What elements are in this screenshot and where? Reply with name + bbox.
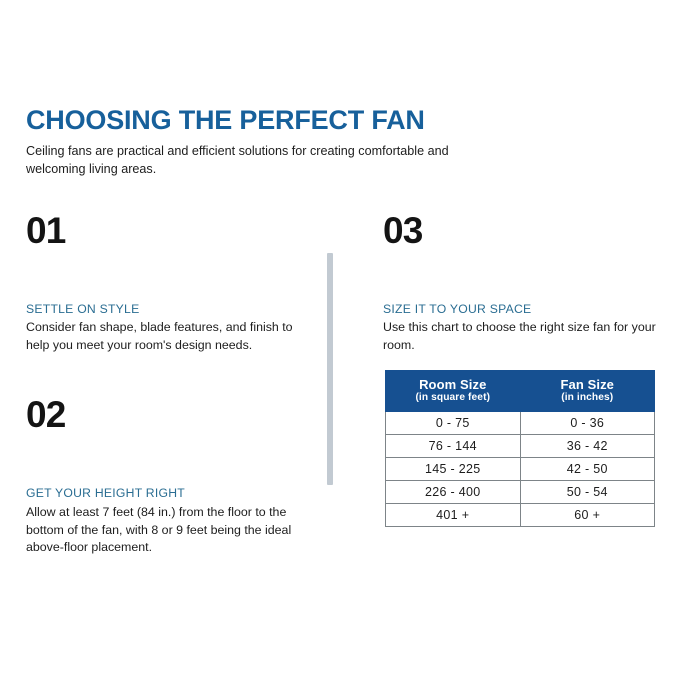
step-body-02: Allow at least 7 feet (84 in.) from the … xyxy=(26,504,298,558)
cell-fan-size: 50 - 54 xyxy=(520,481,655,504)
step-subtitle-02: GET YOUR HEIGHT RIGHT xyxy=(26,485,298,501)
step-number-03: 03 xyxy=(383,212,668,249)
right-column: 03 SIZE IT TO YOUR SPACE Use this chart … xyxy=(383,212,668,355)
column-header-fan-size-sub: (in inches) xyxy=(525,392,651,404)
step-block-01: 01 SETTLE ON STYLE Consider fan shape, b… xyxy=(26,212,298,355)
step-subtitle-03: SIZE IT TO YOUR SPACE xyxy=(383,301,668,317)
table-row: 401 + 60 + xyxy=(386,504,655,527)
fan-size-chart: Room Size (in square feet) Fan Size (in … xyxy=(385,370,655,527)
table-body: 0 - 75 0 - 36 76 - 144 36 - 42 145 - 225… xyxy=(386,412,655,527)
step-block-03: 03 SIZE IT TO YOUR SPACE Use this chart … xyxy=(383,212,668,355)
table-row: 0 - 75 0 - 36 xyxy=(386,412,655,435)
cell-room-size: 0 - 75 xyxy=(386,412,521,435)
column-header-room-size-main: Room Size xyxy=(390,377,516,392)
table-row: 145 - 225 42 - 50 xyxy=(386,458,655,481)
cell-fan-size: 42 - 50 xyxy=(520,458,655,481)
left-column: 01 SETTLE ON STYLE Consider fan shape, b… xyxy=(26,212,298,557)
column-header-fan-size-main: Fan Size xyxy=(525,377,651,392)
cell-room-size: 226 - 400 xyxy=(386,481,521,504)
step-body-03: Use this chart to choose the right size … xyxy=(383,319,668,355)
column-divider xyxy=(327,253,333,485)
infographic-page: CHOOSING THE PERFECT FAN Ceiling fans ar… xyxy=(0,0,700,700)
column-header-room-size-sub: (in square feet) xyxy=(390,392,516,404)
step-number-01: 01 xyxy=(26,212,298,249)
page-title: CHOOSING THE PERFECT FAN xyxy=(26,106,496,134)
cell-fan-size: 36 - 42 xyxy=(520,435,655,458)
cell-room-size: 145 - 225 xyxy=(386,458,521,481)
cell-room-size: 76 - 144 xyxy=(386,435,521,458)
table-row: 76 - 144 36 - 42 xyxy=(386,435,655,458)
table-header-row: Room Size (in square feet) Fan Size (in … xyxy=(386,371,655,412)
step-subtitle-01: SETTLE ON STYLE xyxy=(26,301,298,317)
column-header-room-size: Room Size (in square feet) xyxy=(386,371,521,412)
step-number-02: 02 xyxy=(26,396,298,433)
table-row: 226 - 400 50 - 54 xyxy=(386,481,655,504)
cell-room-size: 401 + xyxy=(386,504,521,527)
step-body-01: Consider fan shape, blade features, and … xyxy=(26,319,298,355)
step-block-02: 02 GET YOUR HEIGHT RIGHT Allow at least … xyxy=(26,396,298,557)
column-header-fan-size: Fan Size (in inches) xyxy=(520,371,655,412)
page-header: CHOOSING THE PERFECT FAN Ceiling fans ar… xyxy=(26,106,496,179)
cell-fan-size: 60 + xyxy=(520,504,655,527)
intro-paragraph: Ceiling fans are practical and efficient… xyxy=(26,143,478,179)
cell-fan-size: 0 - 36 xyxy=(520,412,655,435)
table-header: Room Size (in square feet) Fan Size (in … xyxy=(386,371,655,412)
